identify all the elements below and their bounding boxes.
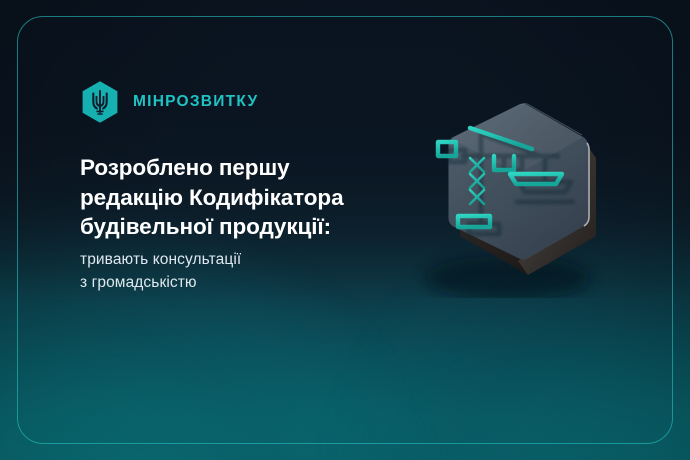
brand-wordmark: МІНРОЗВИТКУ	[133, 94, 258, 110]
page-title: Розроблено першу редакцію Кодифікатора б…	[80, 153, 410, 242]
ukrainian-trident-hexagon-icon	[80, 80, 120, 124]
subtitle-line-2: з громадськістю	[80, 271, 400, 295]
brand-logo-lockup: МІНРОЗВИТКУ	[80, 80, 258, 124]
page-subtitle: тривають консультації з громадськістю	[80, 248, 400, 295]
poster-canvas: МІНРОЗВИТКУ Розроблено першу редакцію Ко…	[0, 0, 690, 460]
headline-line-3: будівельної продукції:	[80, 212, 410, 242]
headline-line-1: Розроблено першу	[80, 153, 410, 183]
crane-badge-illustration	[398, 88, 628, 298]
headline-line-2: редакцію Кодифікатора	[80, 183, 410, 213]
subtitle-line-1: тривають консультації	[80, 248, 400, 272]
